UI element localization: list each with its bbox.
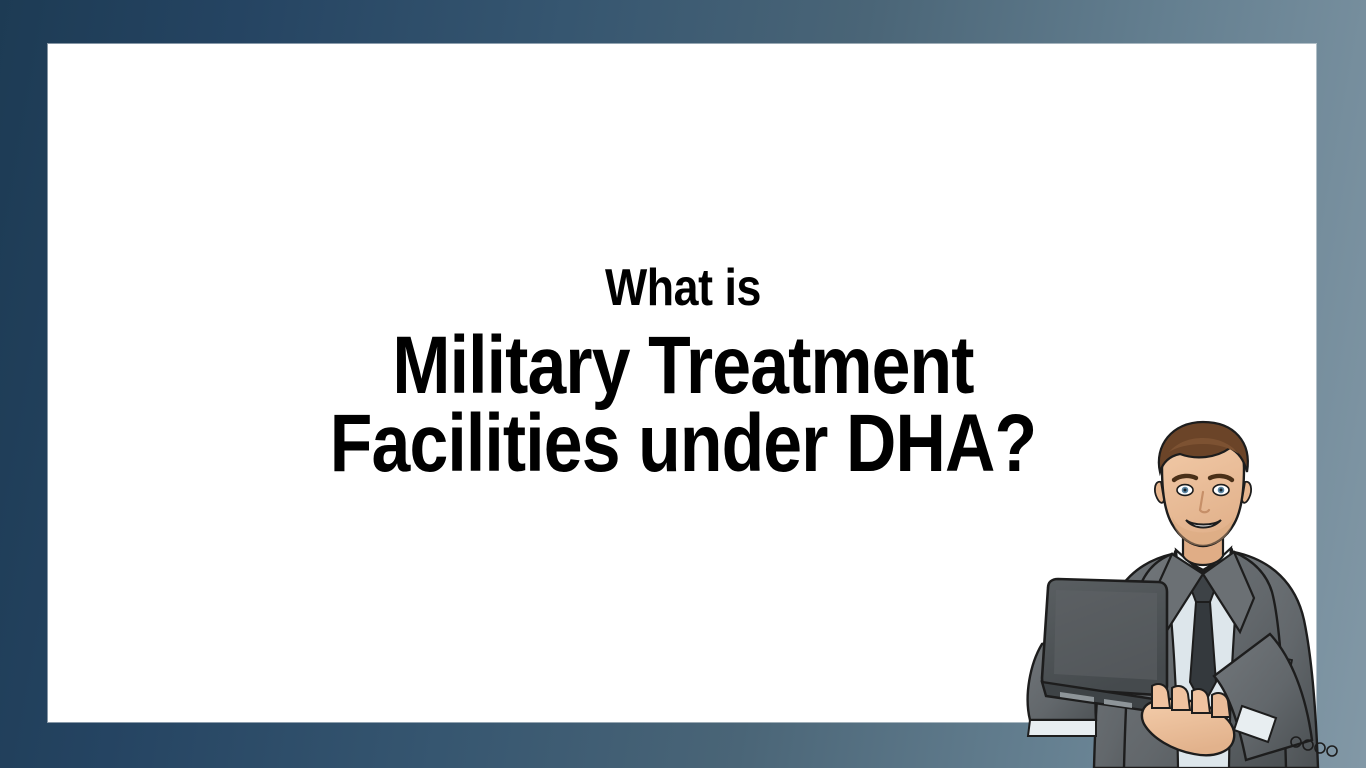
headline-eyebrow: What is [96,258,1271,318]
sleeve-buttons [1291,737,1337,756]
headline-title-line-2: Facilities under DHA? [102,403,1263,485]
headline-title-line-1: Military Treatment [102,325,1263,407]
slide-canvas: What is Military Treatment Facilities un… [0,0,1366,768]
